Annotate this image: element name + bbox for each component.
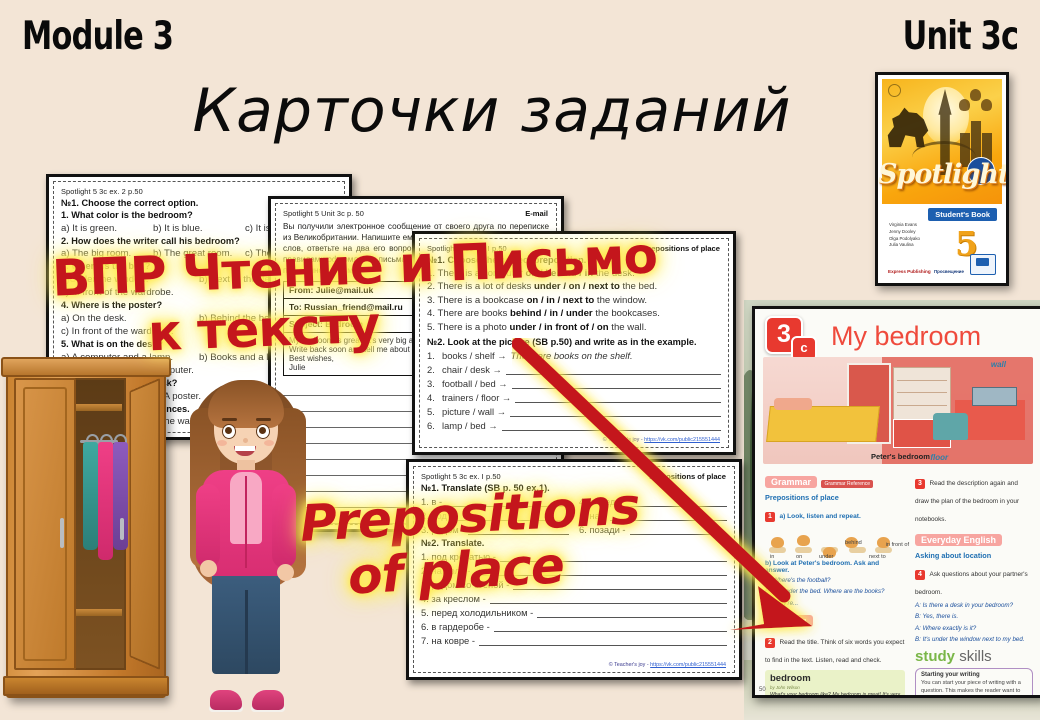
option-a[interactable]: a) It is green. — [61, 223, 153, 234]
preposition-label: next to — [869, 554, 886, 560]
exercise-4-text: Ask questions about your partner's bedro… — [915, 571, 1028, 596]
worksheet-card-prepositions-choose[interactable]: Spotlight 5 3c ex. I p.50 Prepositions o… — [412, 231, 736, 455]
exercise-2-text: Read the title. Think of six words you e… — [765, 639, 904, 664]
translate-item[interactable]: 6. в гардеробе - — [421, 621, 727, 632]
task2-title: №2. Translate. — [421, 538, 727, 548]
option-a[interactable]: a) On the desk. — [61, 313, 199, 324]
cover-authors: Virginia Evans Jenny Dooley Olga Podolya… — [889, 222, 920, 249]
reading-byline: by John Wilson — [770, 685, 900, 690]
textbook-page[interactable]: 3 c My bedroom wall floor Peter's bedroo… — [752, 306, 1040, 698]
exercise-number: 2 — [765, 638, 775, 648]
bedroom-illustration: wall floor Peter's bedroom — [763, 357, 1033, 464]
exercise-item[interactable]: 5. picture / wall → — [427, 406, 721, 417]
sentence-item[interactable]: 4. There are books behind / in / under t… — [427, 308, 721, 319]
exercise-1b-text: b) Look at Peter's bedroom. Ask and answ… — [765, 560, 905, 574]
preposition-label: behind — [845, 540, 862, 546]
publisher-prosveshenie: Просвещение — [934, 269, 964, 274]
exercise-item[interactable]: 6. lamp / bed → — [427, 420, 721, 431]
prepositions-diagram: in on under behind next to in front of — [765, 526, 905, 560]
translate-item[interactable]: 4. за креслом - — [421, 593, 727, 604]
exercise-1a-text: a) Look, listen and repeat. — [779, 513, 860, 520]
unit-label: Unit 3c — [902, 14, 1018, 59]
preposition-label: in — [770, 554, 774, 560]
attribution: © Teacher's joy - https://vk.com/public2… — [609, 662, 726, 668]
dialogue-line: B: It's under the bed. Where are the boo… — [765, 587, 905, 596]
task-title: №1. Choose the correct preposition. — [427, 255, 721, 265]
preposition-label: on — [796, 554, 802, 560]
reading-text-box: bedroom by John Wilson What's your bedro… — [765, 670, 905, 698]
translate-item[interactable]: 1. под кроватью - — [421, 551, 727, 562]
reading-heading: Reading — [765, 615, 813, 627]
card-tag: E-mail — [525, 209, 548, 218]
label-wall: wall — [991, 360, 1006, 369]
attribution-link[interactable]: https://vk.com/public215551444 — [644, 437, 720, 443]
dialogue-line: A: Is there a desk in your bedroom? — [915, 601, 1033, 610]
translate-item[interactable]: 4. перед - — [579, 496, 727, 507]
exercise-number: 4 — [915, 570, 925, 580]
spotlight-book-cover[interactable]: Spotlight Student's Book 5 Virginia Evan… — [875, 72, 1009, 286]
dialogue-line: A: They're... — [765, 599, 905, 608]
everyday-english-heading: Everyday English — [915, 534, 1002, 546]
sentence-item[interactable]: 1. There is a computer on / behind / in … — [427, 268, 721, 279]
grammar-reference-badge: Grammar Reference — [821, 480, 873, 488]
option-b[interactable]: b) The great room. — [153, 248, 245, 259]
translate-item[interactable]: 2. на полу - — [421, 565, 727, 576]
exercise-item[interactable]: 3. football / bed → — [427, 378, 721, 389]
card-tag: Prepositions of place — [643, 244, 720, 253]
grammar-sub: Prepositions of place — [765, 493, 905, 502]
attribution: © Teacher's joy - https://vk.com/public2… — [603, 437, 720, 443]
task-title: №1. Translate (SB p. 50 ex.1). — [421, 483, 727, 493]
card-source: Spotlight 5 Unit 3c p. 50 — [283, 209, 549, 218]
option-a[interactable]: a)Under the window. — [61, 274, 199, 285]
exercise-item[interactable]: 4. trainers / floor → — [427, 392, 721, 403]
sentence-item[interactable]: 2. There is a lot of desks under / on / … — [427, 281, 721, 292]
attribution-link[interactable]: https://vk.com/public215551444 — [650, 662, 726, 668]
label-floor: floor — [930, 453, 948, 462]
preposition-label: under — [819, 554, 833, 560]
study-skills-body: You can start your piece of writing with… — [921, 679, 1027, 698]
exercise-item: 1. books / shelf → There are books on th… — [427, 350, 721, 361]
page-number: 50 — [759, 687, 766, 693]
publisher-express: Express Publishing — [888, 269, 931, 274]
dialogue-line: B: It's under the window next to my bed. — [915, 635, 1033, 644]
header: Module 3 Unit 3c — [0, 14, 1040, 70]
study-skills-box: Starting your writing You can start your… — [915, 668, 1033, 698]
student-book-badge: Student's Book — [928, 208, 997, 221]
card-tag: Prepositions of place — [649, 472, 726, 481]
page-title: Карточки заданий — [0, 76, 1012, 146]
everyday-sub: Asking about location — [915, 551, 1033, 560]
translate-item[interactable]: 3. рядом со стеной - — [421, 579, 727, 590]
label-caption: Peter's bedroom — [871, 452, 930, 461]
reading-body: What's your bedroom like? My bedroom is … — [770, 692, 900, 698]
dialogue-line: B: Yes, there is. — [915, 612, 1033, 621]
emblem-icon — [888, 84, 901, 97]
textbook-left-column: Grammar Grammar Reference Prepositions o… — [765, 472, 905, 698]
option-a[interactable]: a) The big room. — [61, 248, 153, 259]
translate-item[interactable]: 1. в - — [421, 496, 569, 507]
translate-item[interactable]: 7. на ковре - — [421, 635, 727, 646]
module-label: Module 3 — [22, 14, 173, 59]
textbook-right-column: 3 Read the description again and draw th… — [915, 472, 1033, 698]
card-source: Spotlight 5 3c ex. 2 p.50 — [61, 187, 337, 196]
poster-canvas: Module 3 Unit 3c Карточки заданий Spotli… — [0, 0, 1040, 720]
preposition-label: in front of — [886, 542, 909, 548]
study-skills-title: Starting your writing — [921, 672, 1027, 678]
cover-lower: Student's Book 5 Virginia Evans Jenny Do… — [882, 204, 1002, 279]
dialogue-line: A: Where exactly is it? — [915, 624, 1033, 633]
girl-illustration — [180, 368, 312, 714]
translate-item[interactable]: 3. рядом - — [421, 524, 569, 535]
sentence-item[interactable]: 5. There is a photo under / in front of … — [427, 322, 721, 333]
option-b[interactable]: b) It is blue. — [153, 223, 245, 234]
exercise-3-text: Read the description again and draw the … — [915, 480, 1019, 523]
translate-item[interactable]: 6. позади - — [579, 524, 727, 535]
reading-text-title: bedroom — [770, 673, 900, 684]
translate-item[interactable]: 2. под - — [421, 510, 569, 521]
exercise-number: 3 — [915, 479, 925, 489]
computer-icon — [970, 254, 996, 275]
grammar-heading: Grammar — [765, 476, 817, 488]
study-skills-heading: study skills — [915, 648, 1033, 665]
sentence-item[interactable]: 3. There is a bookcase on / in / next to… — [427, 295, 721, 306]
translate-item[interactable]: 5. перед холодильником - — [421, 607, 727, 618]
dialogue-line: A: Where's the football? — [765, 576, 905, 585]
exercise-item[interactable]: 2. chair / desk → — [427, 364, 721, 375]
wardrobe-illustration — [6, 364, 166, 712]
translate-item[interactable]: 5. на - — [579, 510, 727, 521]
exercise-number: 1 — [765, 512, 775, 522]
textbook-title: My bedroom — [831, 321, 981, 352]
task2-title: №2. Look at the picture (SB p.50) and wr… — [427, 337, 721, 347]
cover-logo: Spotlight — [878, 159, 1006, 190]
worksheet-card-translate[interactable]: Spotlight 5 3c ex. I p.50 Prepositions o… — [406, 459, 742, 680]
